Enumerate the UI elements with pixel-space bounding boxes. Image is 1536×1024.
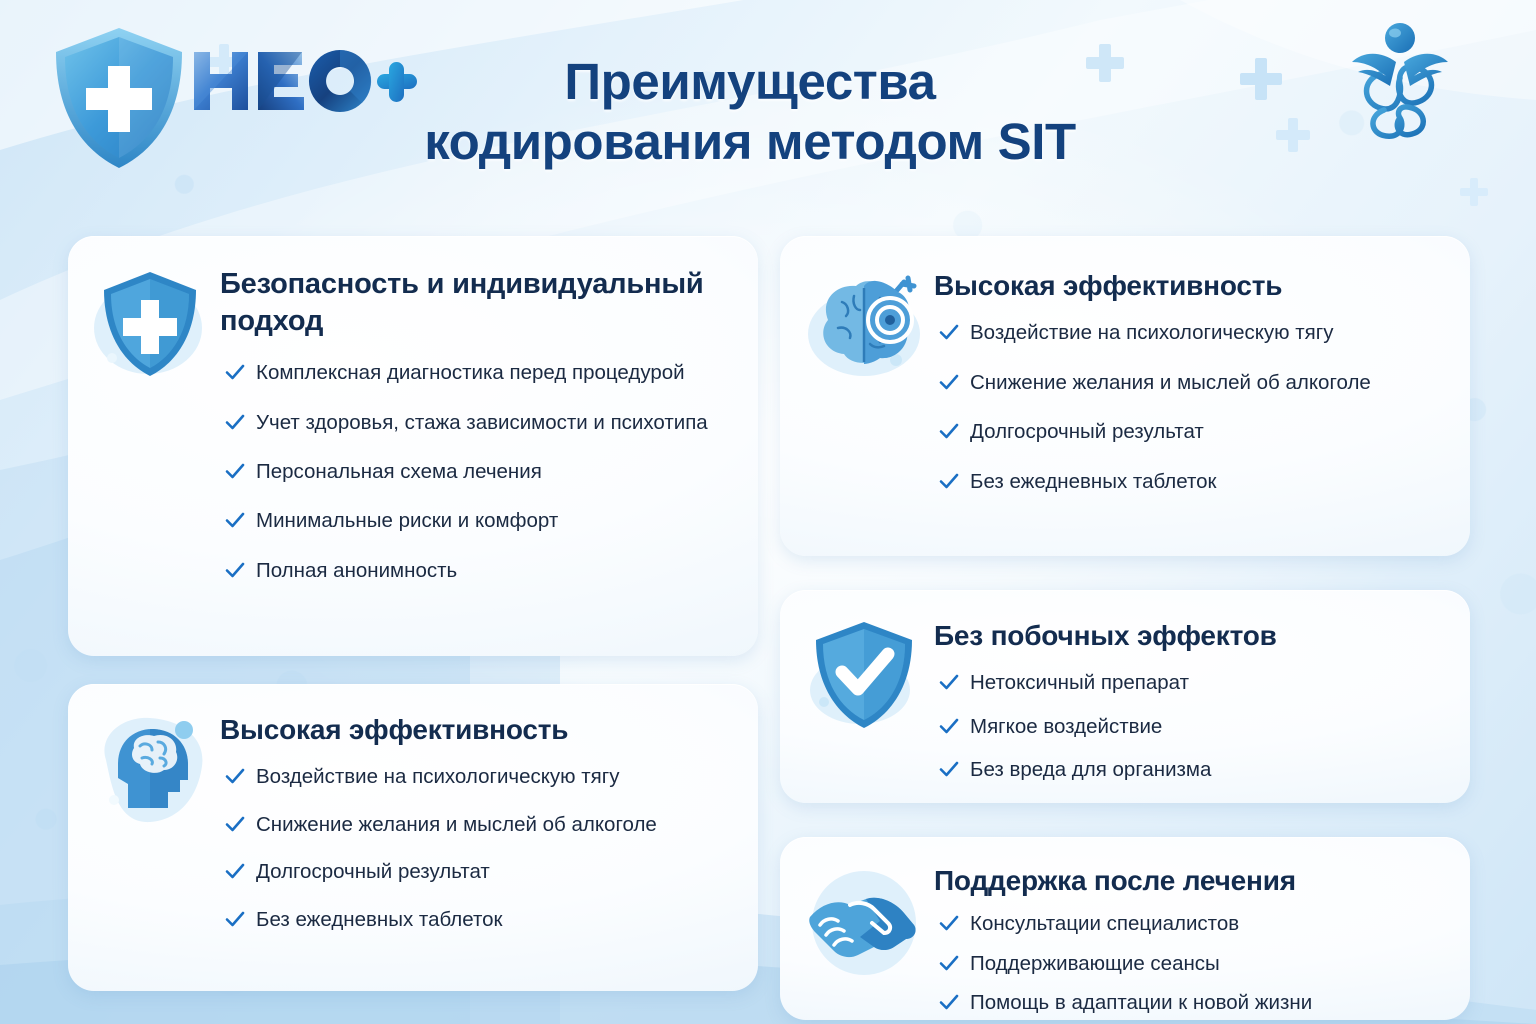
- list-item: Снижение желания и мыслей об алкоголе: [220, 811, 732, 838]
- check-icon: [224, 813, 246, 835]
- brain-target-icon: [802, 264, 928, 390]
- check-icon: [938, 371, 960, 393]
- list-item-text: Снижение желания и мыслей об алкоголе: [256, 813, 657, 836]
- caduceus-icon: [1346, 18, 1454, 170]
- list-item-text: Персональная схема лечения: [256, 460, 542, 483]
- card-title: Безопасность и индивидуальный подход: [220, 266, 732, 339]
- head-brain-icon: [88, 708, 214, 834]
- check-icon: [224, 361, 246, 383]
- check-icon: [938, 420, 960, 442]
- check-icon: [938, 671, 960, 693]
- page-title: Преимущества кодирования методом SIT: [330, 52, 1170, 172]
- check-icon: [224, 765, 246, 787]
- page-title-line-2: кодирования методом SIT: [330, 112, 1170, 172]
- card-post-treatment-support: Поддержка после лечения Консультации спе…: [780, 837, 1470, 1020]
- list-item: Помощь в адаптации к новой жизни: [934, 989, 1444, 1016]
- check-icon: [224, 860, 246, 882]
- list-item: Консультации специалистов: [934, 910, 1444, 937]
- page-header: Преимущества кодирования методом SIT: [0, 0, 1536, 215]
- check-icon: [224, 509, 246, 531]
- list-item: Воздействие на психологическую тягу: [934, 319, 1444, 346]
- list-item: Учет здоровья, стажа зависимости и психо…: [220, 409, 732, 436]
- right-column: Высокая эффективность Воздействие на пси…: [780, 236, 1470, 1020]
- list-item-text: Воздействие на психологическую тягу: [256, 765, 619, 788]
- card-safety: Безопасность и индивидуальный подход Ком…: [68, 236, 758, 656]
- list-item: Полная анонимность: [220, 557, 732, 584]
- list-item: Нетоксичный препарат: [934, 669, 1444, 696]
- handshake-icon: [802, 859, 928, 985]
- list-item: Снижение желания и мыслей об алкоголе: [934, 369, 1444, 396]
- check-icon: [938, 991, 960, 1013]
- card-title: Поддержка после лечения: [934, 863, 1444, 898]
- list-item-text: Воздействие на психологическую тягу: [970, 321, 1333, 344]
- left-column: Безопасность и индивидуальный подход Ком…: [68, 236, 758, 991]
- list-item: Воздействие на психологическую тягу: [220, 763, 732, 790]
- list-item-text: Помощь в адаптации к новой жизни: [970, 991, 1312, 1014]
- list-item-text: Без ежедневных таблеток: [970, 470, 1217, 493]
- check-icon: [938, 912, 960, 934]
- list-item-text: Консультации специалистов: [970, 912, 1239, 935]
- list-item-text: Долгосрочный результат: [256, 860, 490, 883]
- list-item-text: Учет здоровья, стажа зависимости и психо…: [256, 411, 708, 434]
- check-icon: [938, 321, 960, 343]
- list-item-text: Без ежедневных таблеток: [256, 908, 503, 931]
- list-item: Без вреда для организма: [934, 756, 1444, 783]
- card-title: Без побочных эффектов: [934, 618, 1444, 653]
- list-item: Минимальные риски и комфорт: [220, 507, 732, 534]
- check-icon: [224, 460, 246, 482]
- feature-list: Комплексная диагностика перед процедурой…: [220, 359, 732, 584]
- feature-list: Воздействие на психологическую тягу Сниж…: [934, 319, 1444, 495]
- shield-cross-icon: [88, 262, 214, 388]
- list-item: Персональная схема лечения: [220, 458, 732, 485]
- card-title: Высокая эффективность: [934, 268, 1444, 303]
- card-high-efficiency-right: Высокая эффективность Воздействие на пси…: [780, 236, 1470, 556]
- list-item-text: Мягкое воздействие: [970, 715, 1162, 738]
- shield-check-icon: [802, 614, 928, 740]
- check-icon: [224, 908, 246, 930]
- list-item-text: Поддерживающие сеансы: [970, 952, 1220, 975]
- check-icon: [938, 758, 960, 780]
- check-icon: [938, 952, 960, 974]
- list-item: Комплексная диагностика перед процедурой: [220, 359, 732, 386]
- card-high-efficiency-left: Высокая эффективность Воздействие на пси…: [68, 684, 758, 991]
- card-title: Высокая эффективность: [220, 712, 732, 747]
- list-item-text: Долгосрочный результат: [970, 420, 1204, 443]
- list-item-text: Минимальные риски и комфорт: [256, 509, 558, 532]
- check-icon: [938, 715, 960, 737]
- list-item: Долгосрочный результат: [220, 858, 732, 885]
- list-item-text: Нетоксичный препарат: [970, 671, 1189, 694]
- check-icon: [224, 559, 246, 581]
- page-title-line-1: Преимущества: [330, 52, 1170, 112]
- list-item: Поддерживающие сеансы: [934, 950, 1444, 977]
- brand-shield-cross-icon: [48, 22, 190, 174]
- feature-list: Нетоксичный препарат Мягкое воздействие …: [934, 669, 1444, 783]
- list-item-text: Комплексная диагностика перед процедурой: [256, 361, 685, 384]
- check-icon: [224, 411, 246, 433]
- list-item-text: Снижение желания и мыслей об алкоголе: [970, 371, 1371, 394]
- card-no-side-effects: Без побочных эффектов Нетоксичный препар…: [780, 590, 1470, 803]
- list-item-text: Без вреда для организма: [970, 758, 1211, 781]
- list-item: Без ежедневных таблеток: [934, 468, 1444, 495]
- check-icon: [938, 470, 960, 492]
- feature-list: Консультации специалистов Поддерживающие…: [934, 910, 1444, 1016]
- list-item: Долгосрочный результат: [934, 418, 1444, 445]
- feature-list: Воздействие на психологическую тягу Сниж…: [220, 763, 732, 933]
- list-item: Без ежедневных таблеток: [220, 906, 732, 933]
- list-item: Мягкое воздействие: [934, 713, 1444, 740]
- infographic-canvas: Преимущества кодирования методом SIT: [0, 0, 1536, 1024]
- list-item-text: Полная анонимность: [256, 559, 457, 582]
